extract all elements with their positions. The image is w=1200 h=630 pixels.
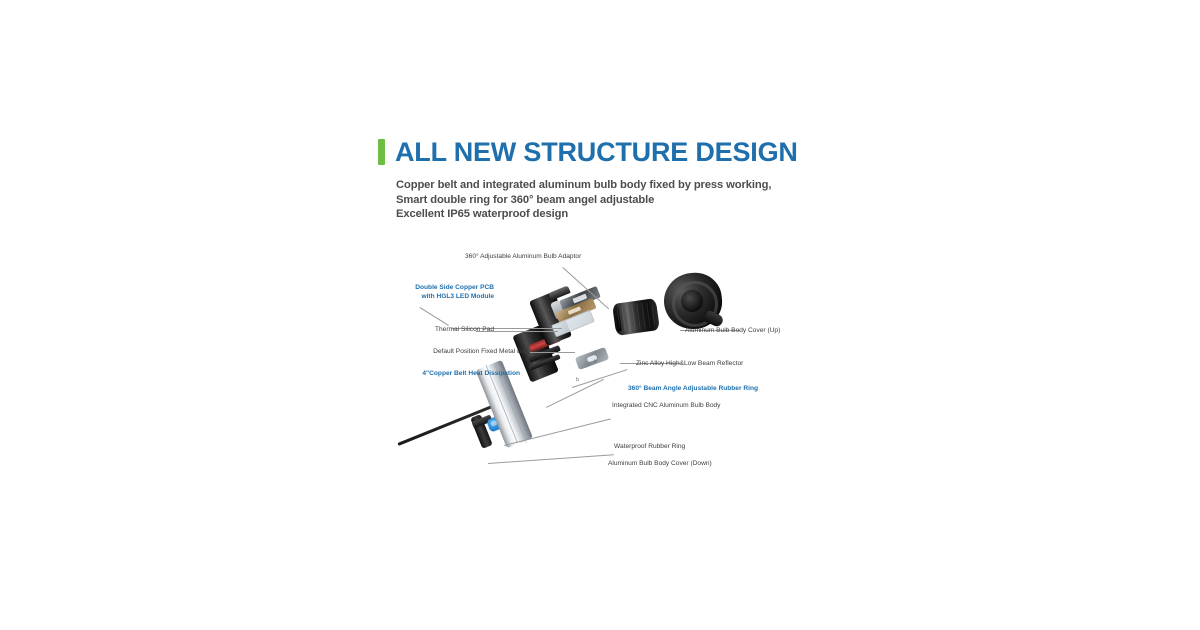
callout-pcb-line2: with HGL3 LED Module (376, 292, 494, 301)
callout-pcb: Double Side Copper PCB with HGL3 LED Mod… (376, 283, 494, 301)
subtitle-line-3: Excellent IP65 waterproof design (396, 207, 898, 222)
callout-cover-down: Aluminum Bulb Body Cover (Down) (608, 459, 712, 468)
subtitle-line-2: Smart double ring for 360° beam angel ad… (396, 193, 898, 208)
adaptor-ribs-icon (616, 302, 655, 333)
subtitle-block: Copper belt and integrated aluminum bulb… (396, 178, 898, 222)
callout-waterproof-ring: Waterproof Rubber Ring (614, 442, 685, 451)
header-block: ALL NEW STRUCTURE DESIGN Copper belt and… (378, 138, 898, 222)
exploded-diagram: b b 360° Adjustable Aluminum Bulb Adapto… (380, 235, 820, 485)
callout-copper-belt: 4"Copper Belt Heat Dissipation (370, 369, 520, 378)
callout-rubber-ring: 360° Beam Angle Adjustable Rubber Ring (628, 384, 758, 393)
callout-adaptor: 360° Adjustable Aluminum Bulb Adaptor (465, 252, 581, 261)
zinc-alloy-reflector-icon (575, 347, 610, 370)
page-title: ALL NEW STRUCTURE DESIGN (395, 138, 798, 166)
callout-cover-up: Aluminum Bulb Body Cover (Up) (685, 326, 780, 335)
micro-label-2: b (576, 377, 579, 383)
callout-reflector: Zinc Alloy High&Low Beam Reflector (636, 359, 743, 368)
subtitle-line-1: Copper belt and integrated aluminum bulb… (396, 178, 898, 193)
callout-pcb-line1: Double Side Copper PCB (415, 284, 494, 291)
callout-bulb-body: Integrated CNC Aluminum Bulb Body (612, 401, 720, 410)
callout-silicon-pad: Thermal Silicon Pad (386, 325, 494, 334)
product-artwork: b b (380, 235, 820, 485)
green-accent-bar (378, 139, 385, 165)
leader-line-metal-ball (530, 352, 575, 353)
page-root: ALL NEW STRUCTURE DESIGN Copper belt and… (0, 0, 1200, 630)
micro-label-1: b (594, 359, 597, 365)
callout-metal-ball: Default Position Fixed Metal Ball (372, 347, 528, 356)
header-title-row: ALL NEW STRUCTURE DESIGN (378, 138, 898, 166)
